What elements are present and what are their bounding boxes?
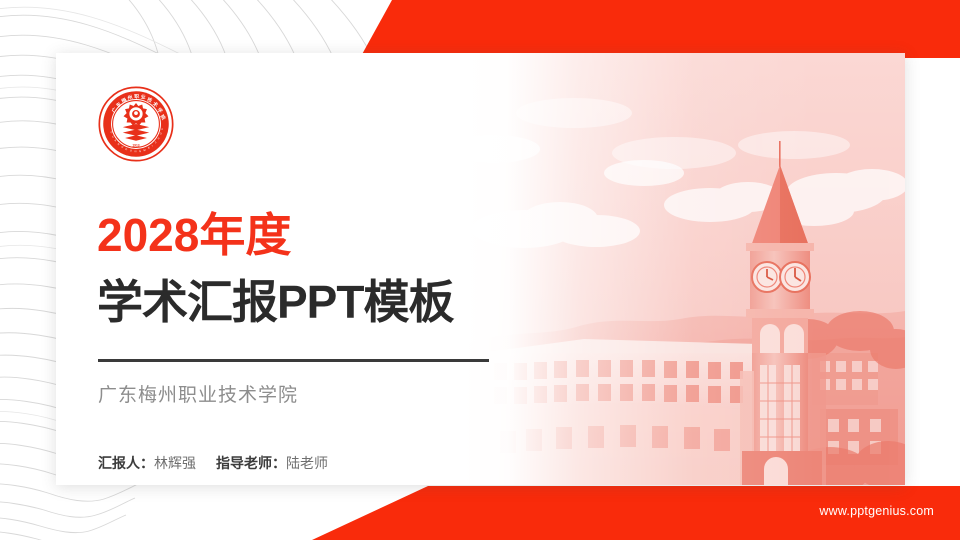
presentation-title-slide: 广 东 梅 州 职 业 技 术 学 院 G U	[0, 0, 960, 540]
svg-text:G: G	[139, 149, 141, 153]
content-card: 广 东 梅 州 职 业 技 术 学 院 G U	[56, 53, 905, 485]
school-name-subtitle: 广东梅州职业技术学院	[98, 380, 298, 407]
title-divider-line	[98, 359, 489, 362]
title-content-block: 广 东 梅 州 职 业 技 术 学 院 G U	[97, 53, 567, 485]
reporter-label: 汇报人：	[98, 455, 154, 471]
advisor-label: 指导老师：	[216, 455, 286, 471]
slide-year-title: 2028年度	[97, 212, 291, 258]
reporter-name: 林辉强	[154, 455, 196, 471]
slide-main-title: 学术汇报PPT模板	[97, 279, 453, 325]
presenter-info-line: 汇报人：林辉强指导老师：陆老师	[98, 453, 328, 473]
logo-year-text: 1913	[132, 144, 139, 148]
advisor-name: 陆老师	[286, 455, 328, 471]
top-red-band	[360, 0, 960, 58]
site-watermark: www.pptgenius.com	[819, 504, 934, 518]
university-seal-logo: 广 东 梅 州 职 业 技 术 学 院 G U	[97, 85, 175, 163]
